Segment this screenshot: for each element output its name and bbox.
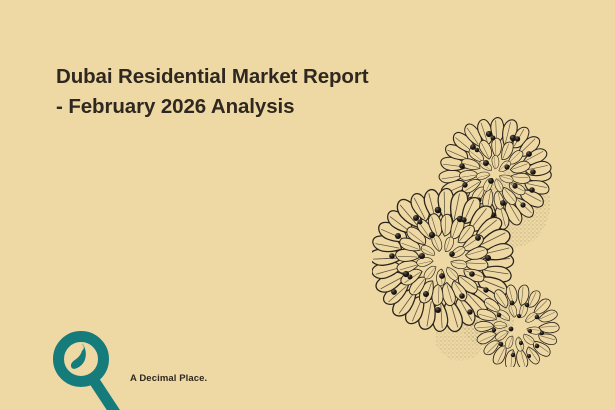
logo-lockup: A Decimal Place.	[52, 330, 272, 410]
palm-tree-canopy-illustration	[372, 112, 572, 367]
logo-tagline: A Decimal Place.	[130, 373, 207, 384]
title-line-1: Dubai Residential Market Report	[56, 62, 476, 92]
report-cover-slide: Dubai Residential Market Report - Februa…	[0, 0, 615, 410]
magnifying-glass-leaf-logo-icon	[52, 330, 124, 410]
